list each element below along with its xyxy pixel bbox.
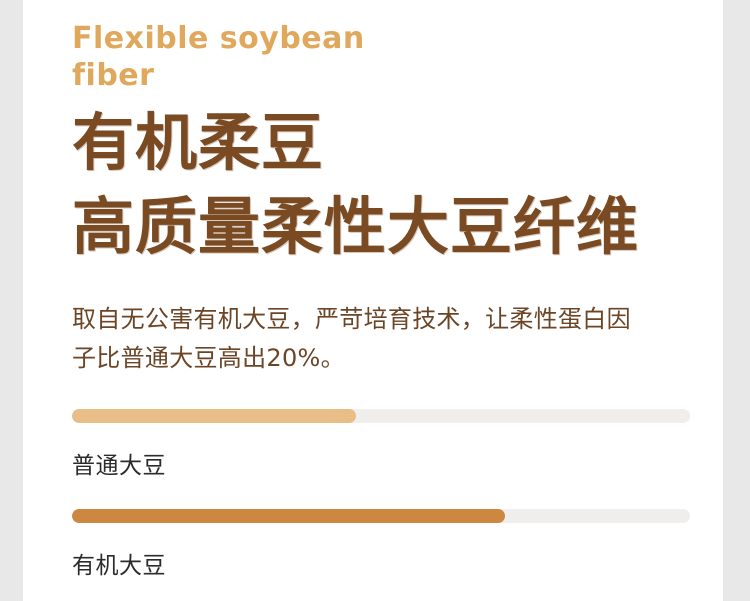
bar-track: [72, 509, 690, 523]
content-sheet: Flexible soybean fiber 有机柔豆 高质量柔性大豆纤维 取自…: [23, 0, 723, 601]
eyebrow-heading: Flexible soybean fiber: [72, 20, 502, 94]
bar-label-organic: 有机大豆: [72, 523, 690, 578]
page-title-line-2: 高质量柔性大豆纤维: [72, 196, 639, 258]
bar-label-ordinary: 普通大豆: [72, 423, 690, 478]
bar-fill-ordinary: [72, 409, 356, 423]
page-title-line-1: 有机柔豆: [72, 112, 324, 174]
description-paragraph: 取自无公害有机大豆，严苛培育技术，让柔性蛋白因子比普通大豆高出20%。: [72, 300, 632, 378]
comparison-bar-organic: 有机大豆: [72, 509, 690, 578]
comparison-bar-ordinary: 普通大豆: [72, 409, 690, 478]
content-column: Flexible soybean fiber 有机柔豆 高质量柔性大豆纤维 取自…: [72, 0, 690, 601]
bar-fill-organic: [72, 509, 505, 523]
product-detail-page: Flexible soybean fiber 有机柔豆 高质量柔性大豆纤维 取自…: [0, 0, 750, 601]
bar-track: [72, 409, 690, 423]
